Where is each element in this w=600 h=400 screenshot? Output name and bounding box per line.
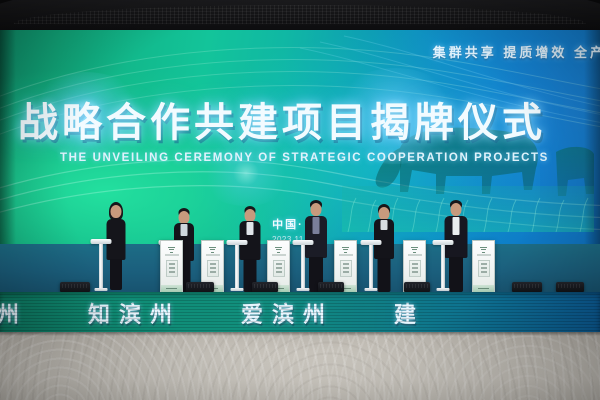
slogan-text: 集群共享 提质增效 全产 (433, 42, 600, 61)
screenshot-root: 集群共享 提质增效 全产 战略合作共建项目揭牌仪式 THE UNVEILING … (0, 0, 600, 400)
ceiling-truss (0, 0, 600, 30)
center-caption-line1: 中国· (272, 216, 304, 232)
plaque-4-subtitle (339, 254, 352, 256)
stage-monitor-5 (404, 282, 430, 292)
podium-1-base (95, 288, 108, 291)
plaque-1-subtitle (165, 254, 178, 256)
podium-3-post (235, 245, 239, 288)
venue-carpet (0, 332, 600, 400)
stage-monitor-4 (318, 282, 344, 292)
plaque-6-panel (478, 260, 490, 277)
stage-monitor-6 (512, 282, 542, 292)
plaque-5-subtitle (408, 254, 421, 256)
plaque-3-logo (275, 247, 283, 253)
podium-5-base (365, 288, 378, 291)
person-1-head (111, 205, 122, 218)
plaque-3-panel (273, 260, 285, 277)
person-4-head (311, 203, 322, 216)
stage-monitor-3 (252, 282, 278, 292)
plaque-4-panel (340, 260, 352, 277)
plaque-2-logo (209, 247, 217, 253)
ribbon-scanlines (0, 292, 600, 334)
podium-6-base (437, 288, 450, 291)
stage-monitor-1 (60, 282, 90, 292)
plaque-5-logo (411, 247, 419, 253)
plaque-2-panel (207, 260, 219, 277)
led-ribbon-banner: 滨州知滨州爱滨州建 (0, 292, 600, 334)
person-5-shirt (381, 220, 388, 230)
podium-4-post (301, 245, 305, 288)
podium-4-base (297, 288, 310, 291)
podium-stand-4 (292, 240, 314, 291)
person-3-shirt (247, 222, 254, 235)
podium-6-post (441, 245, 445, 288)
plaque-6-subtitle (477, 254, 490, 256)
person-4-shirt (313, 217, 320, 234)
plaque-3-subtitle (272, 254, 285, 256)
event-title-chinese: 战略合作共建项目揭牌仪式 (18, 90, 582, 148)
podium-5-post (369, 245, 373, 288)
podium-stand-1 (90, 239, 112, 291)
person-2-shirt (181, 224, 188, 236)
podium-3-base (231, 288, 244, 291)
stage-monitor-7 (556, 282, 584, 292)
plaque-4-logo (342, 247, 350, 253)
person-6-shirt (453, 217, 460, 235)
podium-stand-5 (360, 240, 382, 291)
person-6-head (451, 203, 462, 216)
event-title-block: 战略合作共建项目揭牌仪式 THE UNVEILING CEREMONY OF S… (18, 90, 582, 164)
podium-stand-3 (226, 240, 248, 291)
unveiling-plaque-1 (160, 240, 183, 294)
plaque-1-logo (168, 247, 176, 253)
unveiling-plaque-6 (472, 240, 495, 294)
stage-monitor-2 (186, 282, 214, 292)
podium-1-post (99, 244, 103, 288)
plaque-5-panel (409, 260, 421, 277)
plaque-6-logo (480, 247, 488, 253)
podium-stand-6 (432, 240, 454, 291)
plaque-1-panel (166, 260, 178, 277)
event-title-english: THE UNVEILING CEREMONY OF STRATEGIC COOP… (60, 152, 582, 164)
plaque-2-subtitle (206, 254, 219, 256)
